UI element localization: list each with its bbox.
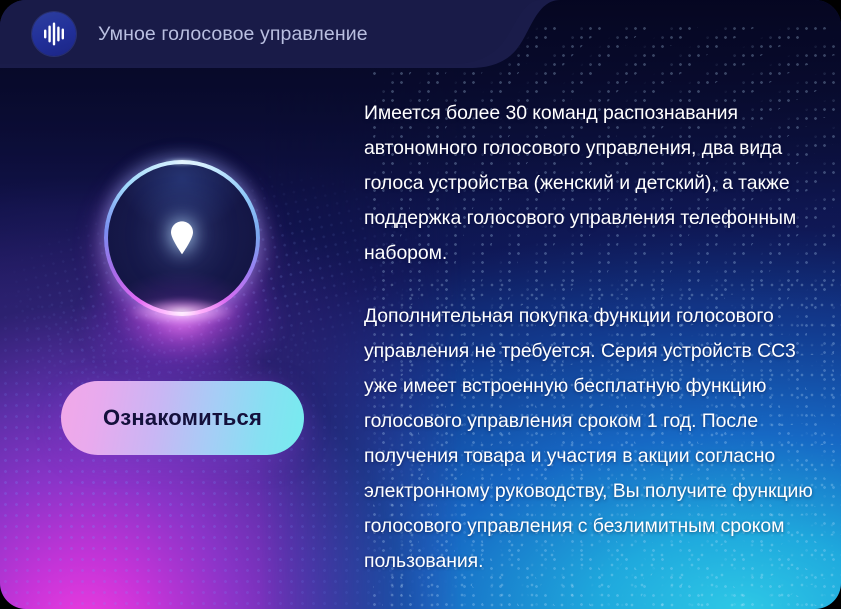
orb-top-spark: [154, 157, 210, 167]
voice-pin-icon: [169, 220, 195, 254]
voice-waveform-icon: [32, 12, 76, 56]
paragraph-2: Дополнительная покупка функции голосовог…: [364, 299, 816, 579]
description-block: Имеется более 30 команд распознавания ав…: [364, 96, 816, 579]
voice-orb: [104, 160, 260, 316]
header: Умное голосовое управление: [0, 0, 620, 68]
waveform-bars: [43, 22, 65, 46]
paragraph-1: Имеется более 30 команд распознавания ав…: [364, 96, 816, 271]
orb-bottom-flare: [107, 294, 257, 330]
learn-more-button[interactable]: Ознакомиться: [61, 381, 304, 455]
promo-card: Умное голосовое управление Ознакомиться …: [0, 0, 841, 609]
page-title: Умное голосовое управление: [98, 23, 368, 46]
